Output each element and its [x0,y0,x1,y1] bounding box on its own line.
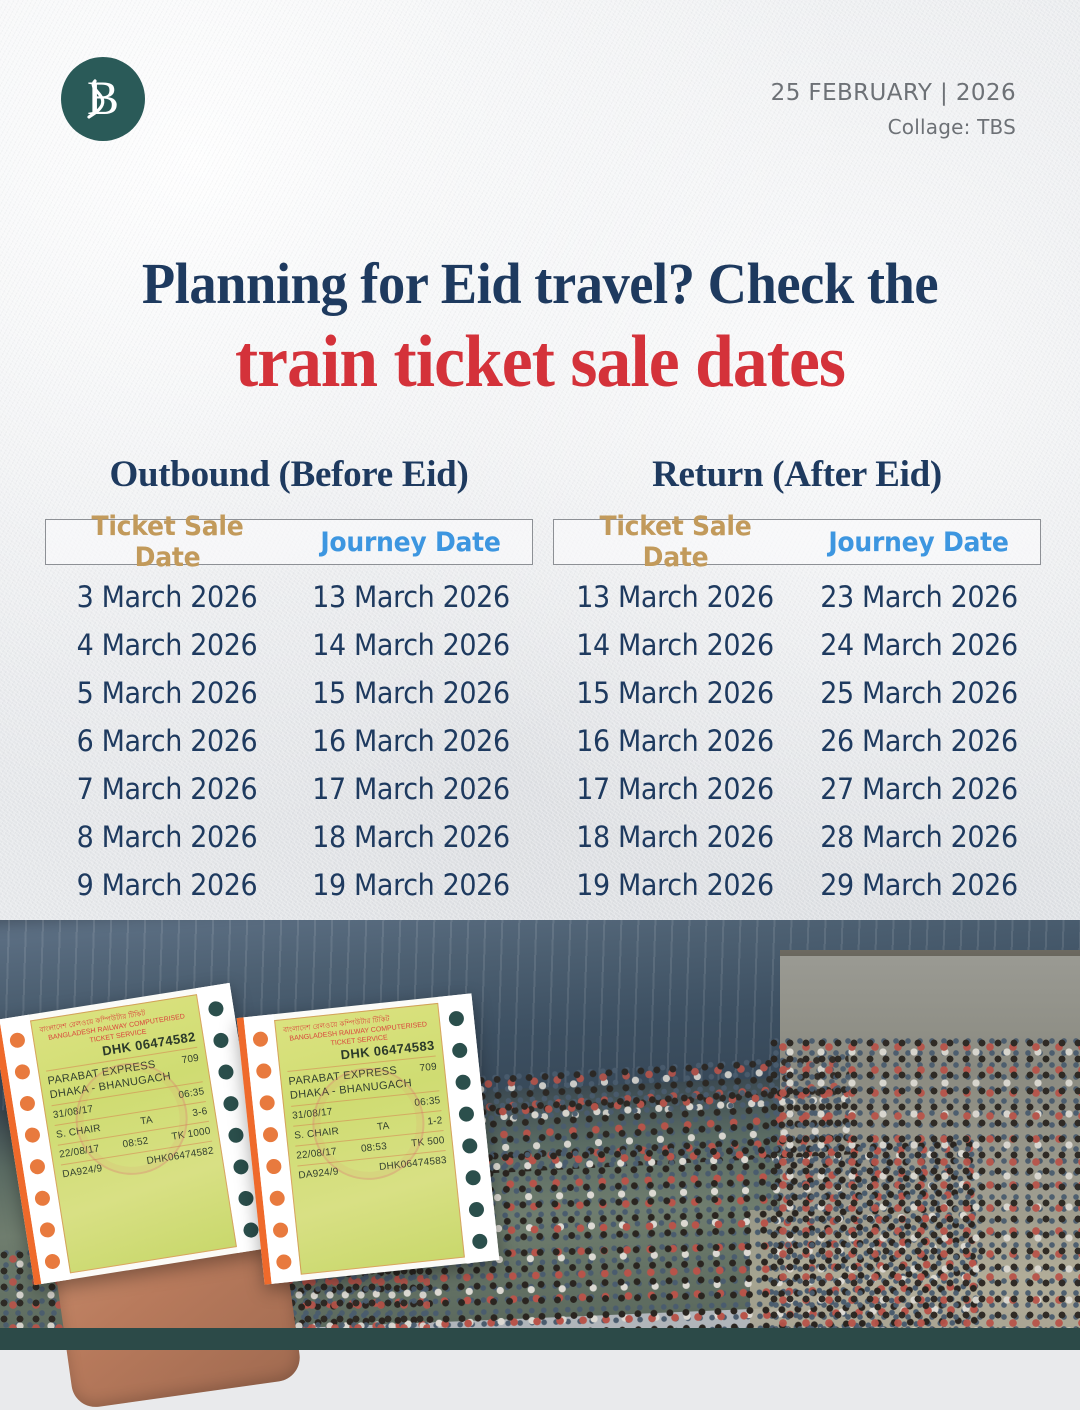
table-row: 5 March 2026 15 March 2026 [45,669,533,717]
table-row: 7 March 2026 17 March 2026 [45,765,533,813]
headline-line-1: Planning for Eid travel? Check the [32,255,1047,313]
table-row: 18 March 2026 28 March 2026 [553,813,1041,861]
table-outbound-header-row: Ticket Sale Date Journey Date [45,519,533,565]
schedule-tables: Outbound (Before Eid) Ticket Sale Date J… [0,452,1080,922]
bs-monogram-logo-icon[interactable]: B [61,57,145,141]
cell-sale-date: 4 March 2026 [54,628,281,662]
table-return-header-row: Ticket Sale Date Journey Date [553,519,1041,565]
train-ticket: বাংলাদেশ রেলওয়ে কম্পিউটার টিকিট BANGLAD… [0,983,271,1285]
page-title: Planning for Eid travel? Check the train… [0,255,1080,399]
table-return-body: 13 March 2026 23 March 2026 14 March 202… [553,573,1041,909]
table-return-title: Return (After Eid) [553,452,1041,498]
cell-journey-date: 19 March 2026 [298,868,525,902]
table-row: 16 March 2026 26 March 2026 [553,717,1041,765]
cell-journey-date: 26 March 2026 [806,724,1033,758]
cell-sale-date: 13 March 2026 [562,580,789,614]
cell-sale-date: 16 March 2026 [562,724,789,758]
cell-sale-date: 18 March 2026 [562,820,789,854]
ticket-seat: 1-2 [427,1114,443,1129]
ticket-face: বাংলাদেশ রেলওয়ে কম্পিউটার টিকিট BANGLAD… [274,1003,465,1275]
footer-bar [0,1328,1080,1350]
table-row: 13 March 2026 23 March 2026 [553,573,1041,621]
table-row: 14 March 2026 24 March 2026 [553,621,1041,669]
table-row: 4 March 2026 14 March 2026 [45,621,533,669]
table-outbound-title: Outbound (Before Eid) [45,452,533,498]
cell-sale-date: 15 March 2026 [562,676,789,710]
table-row: 9 March 2026 19 March 2026 [45,861,533,909]
cell-journey-date: 23 March 2026 [806,580,1033,614]
header-meta: 25 FEBRUARY | 2026 Collage: TBS [771,78,1016,142]
table-row: 6 March 2026 16 March 2026 [45,717,533,765]
table-row: 8 March 2026 18 March 2026 [45,813,533,861]
cell-journey-date: 27 March 2026 [806,772,1033,806]
ticket-train-no: 709 [419,1060,438,1075]
column-header-journey-date: Journey Date [298,527,524,558]
cell-sale-date: 14 March 2026 [562,628,789,662]
cell-journey-date: 14 March 2026 [298,628,525,662]
cell-sale-date: 9 March 2026 [54,868,281,902]
cell-journey-date: 25 March 2026 [806,676,1033,710]
cell-journey-date: 24 March 2026 [806,628,1033,662]
ticket-train-no: 709 [181,1052,200,1068]
table-row: 17 March 2026 27 March 2026 [553,765,1041,813]
cell-sale-date: 5 March 2026 [54,676,281,710]
crowd-platform [770,1038,1080,1330]
cell-sale-date: 6 March 2026 [54,724,281,758]
ticket-seat: 3-6 [191,1105,208,1120]
table-row: 3 March 2026 13 March 2026 [45,573,533,621]
cell-journey-date: 18 March 2026 [298,820,525,854]
cell-journey-date: 15 March 2026 [298,676,525,710]
cell-sale-date: 3 March 2026 [54,580,281,614]
cell-journey-date: 28 March 2026 [806,820,1033,854]
cell-sale-date: 8 March 2026 [54,820,281,854]
table-outbound-body: 3 March 2026 13 March 2026 4 March 2026 … [45,573,533,909]
image-credit: Collage: TBS [771,112,1016,142]
cell-journey-date: 29 March 2026 [806,868,1033,902]
column-header-ticket-sale-date: Ticket Sale Date [563,511,789,573]
ticket-ref: DA924/9 [62,1162,104,1181]
cell-sale-date: 19 March 2026 [562,868,789,902]
column-header-journey-date: Journey Date [806,527,1032,558]
cell-journey-date: 13 March 2026 [298,580,525,614]
publish-date: 25 FEBRUARY | 2026 [771,78,1016,108]
cell-sale-date: 7 March 2026 [54,772,281,806]
column-header-ticket-sale-date: Ticket Sale Date [55,511,281,573]
table-return: Return (After Eid) Ticket Sale Date Jour… [553,452,1041,909]
table-outbound: Outbound (Before Eid) Ticket Sale Date J… [45,452,533,909]
cell-sale-date: 17 March 2026 [562,772,789,806]
cell-journey-date: 16 March 2026 [298,724,525,758]
table-row: 15 March 2026 25 March 2026 [553,669,1041,717]
header-bar: B 25 FEBRUARY | 2026 Collage: TBS [0,0,1080,175]
headline-line-2: train ticket sale dates [32,325,1047,399]
train-ticket: বাংলাদেশ রেলওয়ে কম্পিউটার টিকিট BANGLAD… [237,993,500,1284]
table-row: 19 March 2026 29 March 2026 [553,861,1041,909]
cell-journey-date: 17 March 2026 [298,772,525,806]
